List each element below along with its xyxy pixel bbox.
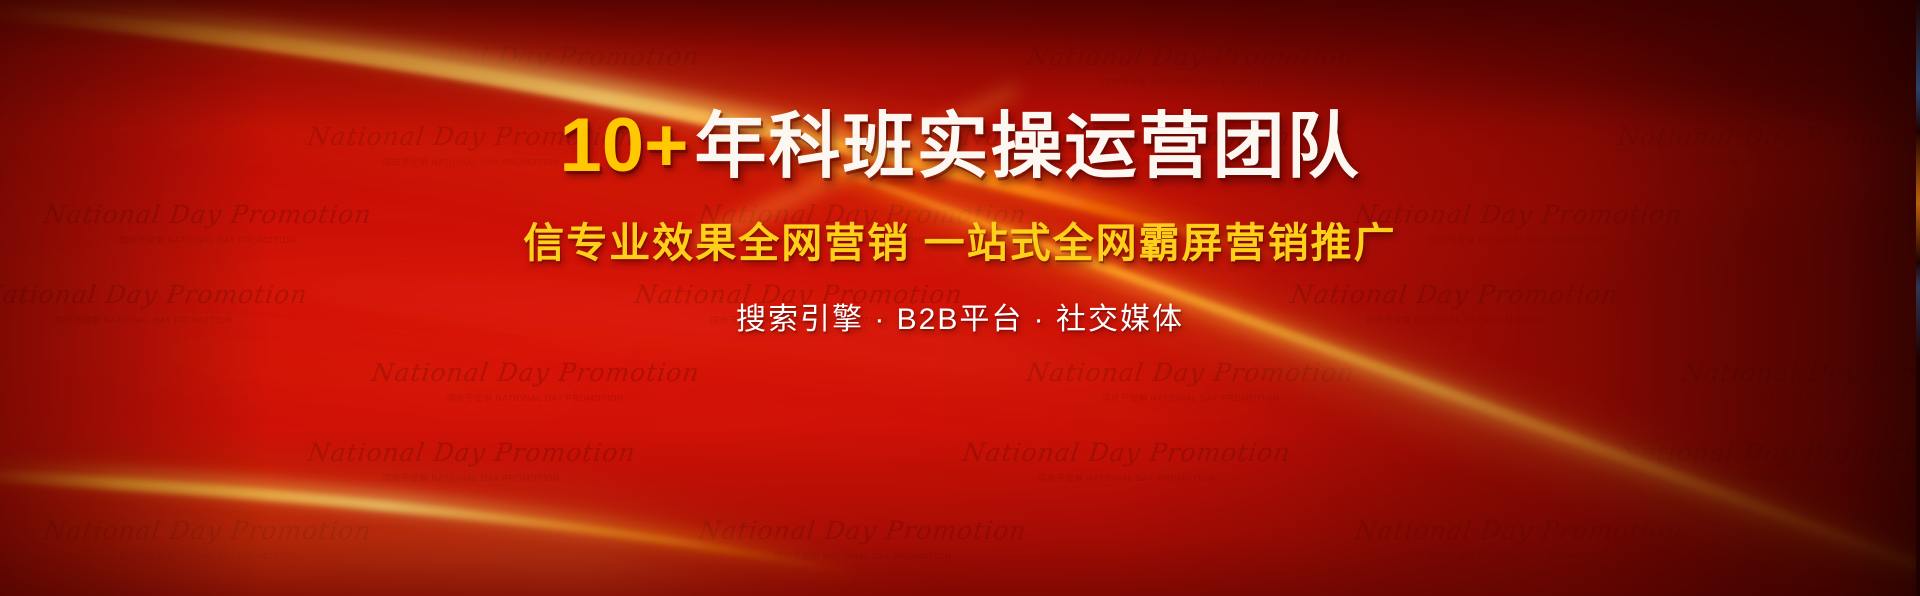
headline-number: 10+ [560, 108, 689, 184]
banner-content: 10+ 年科班实操运营团队 信专业效果全网营销 一站式全网霸屏营销推广 搜索引擎… [0, 0, 1920, 596]
subheadline: 信专业效果全网营销 一站式全网霸屏营销推广 [523, 209, 1396, 269]
promotional-banner: National Day Promotion 国庆节促销 NATIONAL DA… [0, 0, 1920, 596]
tagline: 搜索引擎 · B2B平台 · 社交媒体 [736, 294, 1184, 338]
headline: 10+ 年科班实操运营团队 [560, 108, 1361, 184]
headline-text: 年科班实操运营团队 [694, 111, 1360, 183]
right-edge-artifact [1916, 0, 1920, 596]
